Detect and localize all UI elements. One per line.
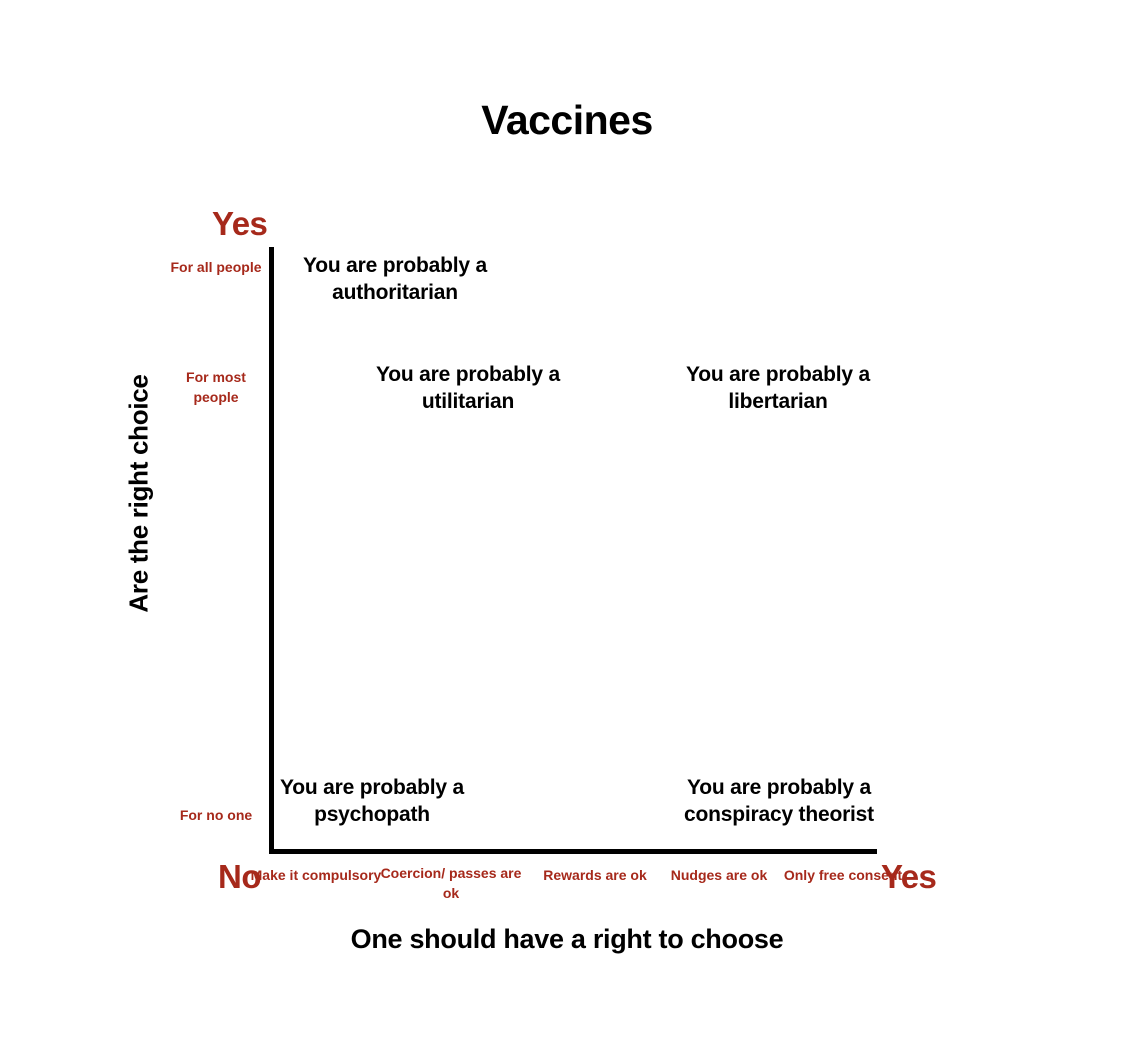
y-axis-line bbox=[269, 247, 274, 854]
x-axis-tick-label-make-it-compulsory: Make it compulsory bbox=[241, 866, 391, 886]
annotation-authoritarian: You are probably a authoritarian bbox=[284, 253, 506, 307]
annotation-utilitarian: You are probably a utilitarian bbox=[356, 362, 580, 416]
y-axis-extreme-yes-label: Yes bbox=[212, 205, 267, 243]
annotation-libertarian: You are probably a libertarian bbox=[666, 362, 890, 416]
x-axis-tick-label-coercion-passes-are-ok: Coercion/ passes are ok bbox=[376, 864, 526, 904]
y-axis-tick-label-for-all-people: For all people bbox=[168, 258, 264, 278]
y-axis-tick-label-for-most-people: For most people bbox=[168, 368, 264, 408]
annotation-conspiracy-theorist: You are probably a conspiracy theorist bbox=[664, 775, 894, 829]
chart-canvas: Vaccines Are the right choice One should… bbox=[0, 0, 1134, 1060]
x-axis-tick-label-only-free-consent: Only free consent bbox=[768, 866, 918, 886]
chart-title: Vaccines bbox=[0, 97, 1134, 144]
annotation-psychopath: You are probably a psychopath bbox=[260, 775, 484, 829]
y-axis-title: Are the right choice bbox=[124, 294, 155, 694]
x-axis-line bbox=[269, 849, 877, 854]
x-axis-title: One should have a right to choose bbox=[0, 924, 1134, 955]
y-axis-tick-label-for-no-one: For no one bbox=[168, 806, 264, 826]
